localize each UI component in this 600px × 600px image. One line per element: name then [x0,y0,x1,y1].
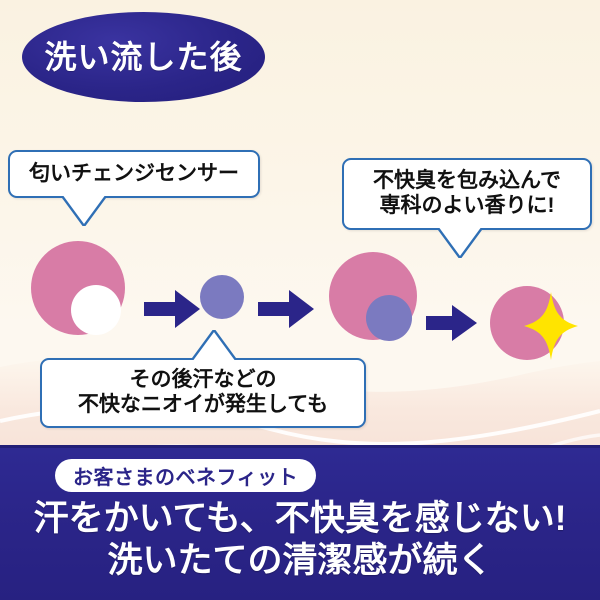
title-badge: 洗い流した後 [22,12,265,102]
banner-top-divider [0,445,600,448]
diagram-step-2 [200,275,244,319]
process-diagram [0,210,600,360]
speech-bubble-sweat-line-1: その後汗などの [130,368,277,393]
title-badge-label: 洗い流した後 [44,41,242,73]
benefit-pill-label: お客さまのベネフィット [73,461,298,490]
process-diagram-svg [0,210,600,360]
speech-bubble-fragrance-line-2: 専科のよい香りに! [380,194,555,219]
speech-bubble-fragrance-tail [438,228,482,258]
diagram-arrow-1 [144,290,200,328]
diagram-step-4 [490,286,578,360]
speech-bubble-sensor: 匂いチェンジセンサー [8,150,260,198]
banner-headline-line-1: 汗をかいても、不快臭を感じない! [0,501,600,536]
benefit-banner: お客さまのベネフィット 汗をかいても、不快臭を感じない! 洗いたての清潔感が続く [0,445,600,600]
diagram-step-3 [329,252,417,341]
speech-bubble-fragrance-line-1: 不快臭を包み込んで [373,169,561,194]
diagram-arrow-2 [258,290,314,328]
speech-bubble-sweat-line-2: 不快なニオイが発生しても [78,393,328,418]
diagram-arrow-3 [426,305,477,341]
speech-bubble-sweat-tail [192,330,236,360]
speech-bubble-fragrance: 不快臭を包み込んで 専科のよい香りに! [342,158,592,230]
speech-bubble-sweat: その後汗などの 不快なニオイが発生しても [40,358,366,428]
banner-headline-line-2: 洗いたての清潔感が続く [0,543,600,578]
diagram-step-1 [31,241,125,335]
speech-bubble-sensor-tail [62,196,106,226]
speech-bubble-sensor-line-1: 匂いチェンジセンサー [29,162,239,187]
poster-root: 洗い流した後 [0,0,600,600]
benefit-pill: お客さまのベネフィット [55,459,316,492]
